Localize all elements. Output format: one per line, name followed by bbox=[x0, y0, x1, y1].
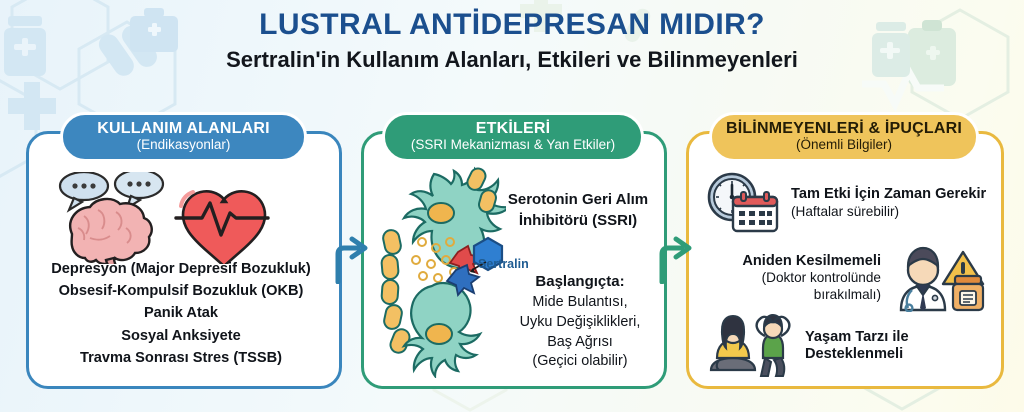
yoga-standing-icon bbox=[757, 315, 790, 376]
tip-subtext-line1: (Doktor kontrolünde bbox=[703, 270, 881, 286]
clock-calendar-icon-group bbox=[703, 171, 781, 235]
arrow-panel2-to-panel3 bbox=[658, 232, 692, 284]
tip-heading: Aniden Kesilmemeli bbox=[703, 253, 881, 271]
heart-pulse-icon bbox=[176, 191, 268, 264]
list-item: Obsesif-Kompulsif Bozukluk (OKB) bbox=[30, 280, 332, 302]
panel1-indication-list: Depresyon (Major Depresif Bozukluk) Obse… bbox=[30, 258, 332, 369]
medical-cross-icon bbox=[8, 82, 56, 130]
page-subtitle: Sertralin'in Kullanım Alanları, Etkileri… bbox=[0, 48, 1024, 73]
panel2-mechanism-text: Serotonin Geri Alım İnhibitörü (SSRI) bbox=[496, 190, 660, 231]
panel-header-subtitle: (Önemli Bilgiler) bbox=[796, 138, 892, 153]
tip-text-aniden-kesilmemeli: Aniden Kesilmemeli (Doktor kontrolünde b… bbox=[703, 253, 885, 303]
page-title: LUSTRAL ANTİDEPRESAN MIDIR? bbox=[0, 8, 1024, 42]
list-item: Sosyal Anksiyete bbox=[30, 325, 332, 347]
panel-header-bilinmeyenleri: BİLİNMEYENLERİ & İPUÇLARI (Önemli Bilgil… bbox=[709, 112, 979, 162]
calendar-icon bbox=[733, 192, 777, 231]
panel-header-kullanim-alanlari: KULLANIM ALANLARI (Endikasyonlar) bbox=[60, 112, 307, 162]
panel-header-title: ETKİLERİ bbox=[476, 121, 551, 138]
panel-header-title: KULLANIM ALANLARI bbox=[97, 121, 270, 138]
heart-pulse-icon bbox=[862, 72, 944, 104]
tip-heading-line1: Yaşam Tarzı ile bbox=[805, 329, 909, 347]
tip-heading-line2: Desteklenmeli bbox=[805, 346, 909, 364]
tip-text-zaman-gerekir: Tam Etki İçin Zaman Gerekir (Haftalar sü… bbox=[791, 186, 986, 220]
side-effect-item: Mide Bulantısı, bbox=[500, 293, 660, 313]
side-effect-item: (Geçici olabilir) bbox=[500, 352, 660, 372]
mechanism-line-2: İnhibitörü (SSRI) bbox=[496, 211, 660, 232]
doctor-icon bbox=[901, 248, 945, 311]
arrow-panel1-to-panel2 bbox=[334, 232, 368, 284]
tip-subtext-line2: bırakılmalı) bbox=[703, 287, 881, 303]
sertralin-label: Sertralin bbox=[478, 257, 529, 271]
side-effects-heading: Başlangıçta: bbox=[500, 272, 660, 292]
doctor-warning-icon-group bbox=[891, 244, 995, 312]
panel-header-subtitle: (SSRI Mekanizması & Yan Etkiler) bbox=[411, 138, 615, 153]
brain-icon bbox=[70, 199, 152, 264]
mechanism-line-1: Serotonin Geri Alım bbox=[496, 190, 660, 211]
tip-text-yasam-tarzi: Yaşam Tarzı ile Desteklenmeli bbox=[805, 329, 909, 364]
panel-header-subtitle: (Endikasyonlar) bbox=[137, 138, 231, 153]
neuron-synapse-icon bbox=[376, 166, 506, 378]
side-effect-item: Baş Ağrısı bbox=[500, 333, 660, 353]
yoga-sitting-icon bbox=[711, 316, 755, 370]
list-item: Depresyon (Major Depresif Bozukluk) bbox=[30, 258, 332, 280]
yoga-icon-group bbox=[703, 314, 793, 378]
tip-subtext: (Haftalar sürebilir) bbox=[791, 204, 986, 220]
list-item: Panik Atak bbox=[30, 302, 332, 324]
tip-heading: Tam Etki İçin Zaman Gerekir bbox=[791, 186, 986, 204]
infographic-header: LUSTRAL ANTİDEPRESAN MIDIR? Sertralin'in… bbox=[0, 8, 1024, 72]
panel-header-title: BİLİNMEYENLERİ & İPUÇLARI bbox=[726, 121, 962, 138]
side-effect-item: Uyku Değişiklikleri, bbox=[500, 313, 660, 333]
panel2-side-effects: Başlangıçta: Mide Bulantısı, Uyku Değişi… bbox=[500, 272, 660, 372]
pill-bottle-icon bbox=[953, 276, 983, 310]
tip-row-zaman-gerekir: Tam Etki İçin Zaman Gerekir (Haftalar sü… bbox=[703, 170, 995, 236]
list-item: Travma Sonrası Stres (TSSB) bbox=[30, 347, 332, 369]
panel-header-etkileri: ETKİLERİ (SSRI Mekanizması & Yan Etkiler… bbox=[382, 112, 644, 162]
tip-row-yasam-tarzi: Yaşam Tarzı ile Desteklenmeli bbox=[703, 312, 995, 380]
panel1-illustration bbox=[36, 172, 326, 264]
tip-row-aniden-kesilmemeli: Aniden Kesilmemeli (Doktor kontrolünde b… bbox=[703, 243, 995, 313]
